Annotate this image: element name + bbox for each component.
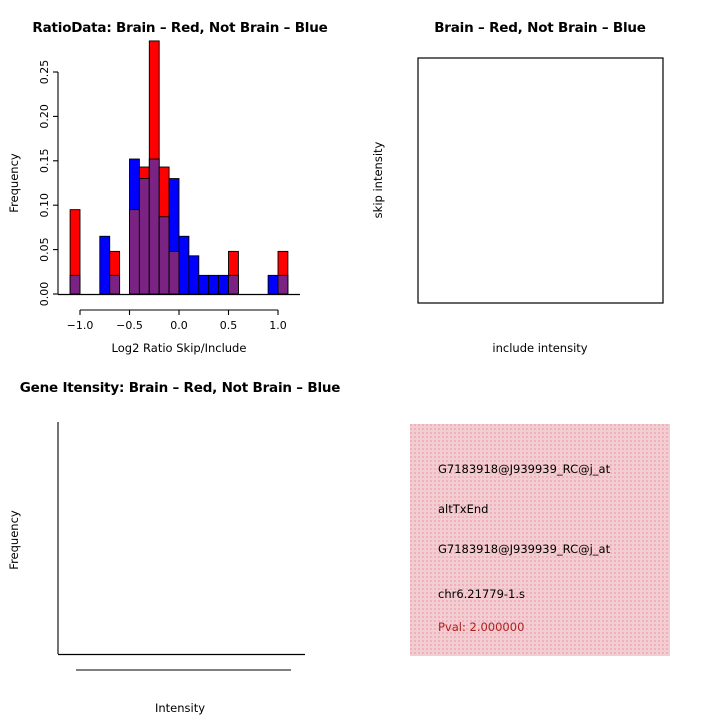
ratio-hist-xlabel: Log2 Ratio Skip/Include — [112, 341, 247, 355]
xtick-label: 0.0 — [170, 319, 188, 332]
ratio-histogram-bars — [70, 41, 288, 294]
intensity-scatter-panel: Brain – Red, Not Brain – Blue skip inten… — [360, 0, 720, 360]
gene-hist-xlabel: Intensity — [155, 701, 205, 715]
xtick-label: 0.5 — [220, 319, 238, 332]
scatter-xlabel: include intensity — [492, 341, 587, 355]
ytick-label: 0.05 — [38, 237, 51, 262]
ytick-label: 0.10 — [38, 193, 51, 218]
ratio-histogram-plot: 0.00 0.05 0.10 0.15 0.20 0.25 Frequency … — [0, 0, 360, 360]
xtick-label: −1.0 — [67, 319, 94, 332]
event-type: altTxEnd — [438, 502, 488, 516]
pval-text: Pval: 2.000000 — [438, 620, 524, 634]
ytick-label: 0.00 — [38, 282, 51, 307]
xtick-label: −0.5 — [116, 319, 143, 332]
gene-histogram-title: Gene Itensity: Brain – Red, Not Brain – … — [0, 380, 360, 396]
scatter-ylabel: skip intensity — [371, 141, 385, 218]
xtick-label: 1.0 — [269, 319, 287, 332]
ytick-label: 0.20 — [38, 104, 51, 128]
info-box: G7183918@J939939_RC@j_at altTxEnd G71839… — [410, 424, 670, 656]
ratio-hist-ylabel: Frequency — [7, 153, 21, 213]
gene-intensity-histogram-panel: Frequency Intensity Gene Itensity: Brain… — [0, 360, 360, 720]
probeset-info-panel: G7183918@J939939_RC@j_at altTxEnd G71839… — [360, 360, 720, 720]
probeset-id: G7183918@J939939_RC@j_at — [438, 462, 610, 476]
genomic-location: chr6.21779-1.s — [438, 587, 525, 601]
probeset-id-2: G7183918@J939939_RC@j_at — [438, 542, 610, 556]
intensity-scatter-plot: skip intensity include intensity — [360, 0, 720, 360]
gene-hist-ylabel: Frequency — [7, 510, 21, 570]
gene-intensity-plot: Frequency Intensity — [0, 360, 360, 720]
ytick-label: 0.15 — [38, 149, 51, 174]
ytick-label: 0.25 — [38, 60, 51, 85]
ratio-histogram-panel: RatioData: Brain – Red, Not Brain – Blue… — [0, 0, 360, 360]
